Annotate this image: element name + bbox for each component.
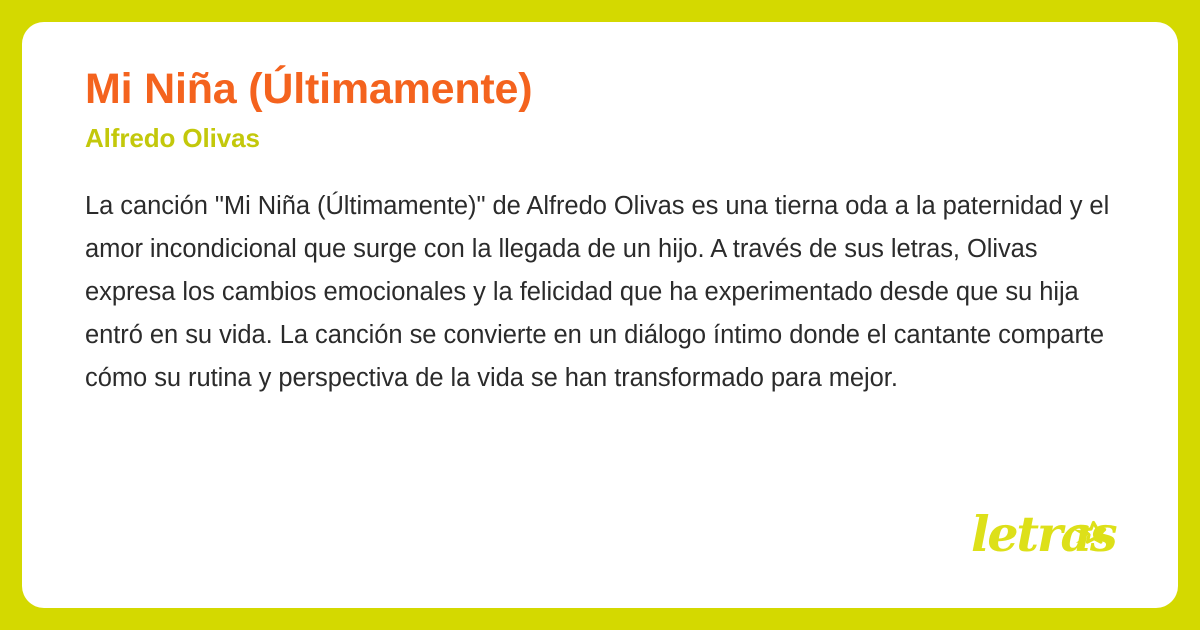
song-description: La canción "Mi Niña (Últimamente)" de Al…: [85, 185, 1115, 400]
artist-name: Alfredo Olivas: [85, 124, 1138, 154]
song-summary-card: Mi Niña (Últimamente) Alfredo Olivas La …: [22, 22, 1178, 608]
page-title: Mi Niña (Últimamente): [85, 65, 1138, 113]
card-content: Mi Niña (Últimamente) Alfredo Olivas La …: [85, 65, 1138, 400]
og-image-canvas: Mi Niña (Últimamente) Alfredo Olivas La …: [0, 0, 1200, 630]
brand-wordmark: letras: [971, 505, 1117, 563]
letras-logo[interactable]: letras: [971, 503, 1121, 565]
